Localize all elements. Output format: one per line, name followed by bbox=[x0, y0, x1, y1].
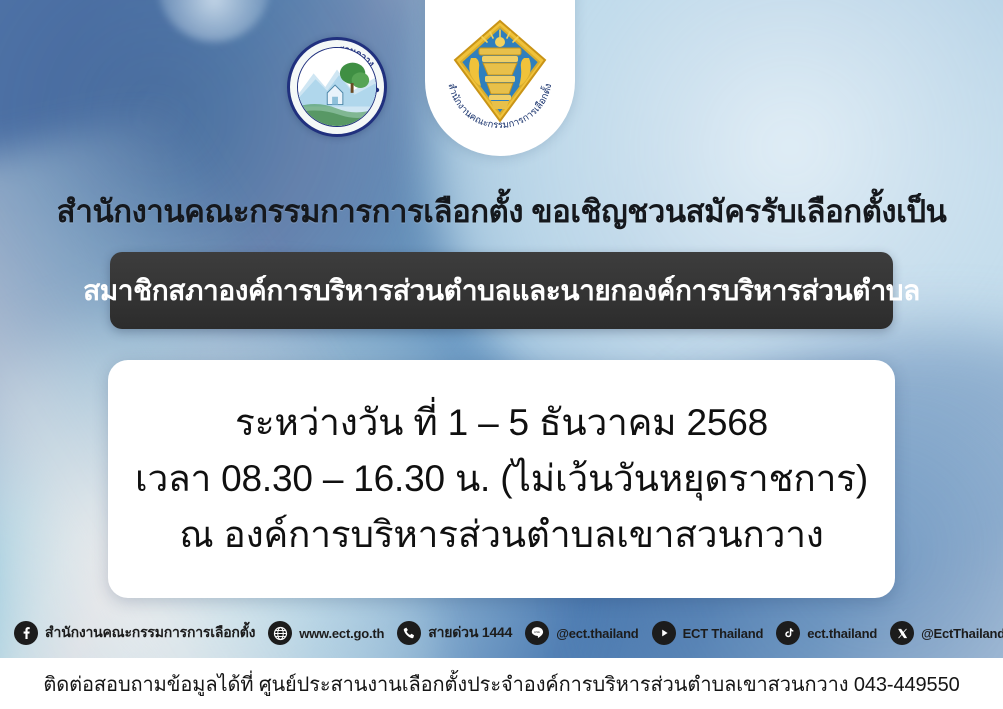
social-links-bar: สำนักงานคณะกรรมการการเลือกตั้ง www.ect.g… bbox=[0, 613, 1003, 653]
detail-line-time: เวลา 08.30 – 16.30 น. (ไม่เว้นวันหยุดราช… bbox=[135, 453, 868, 505]
social-item-line[interactable]: LINE @ect.thailand bbox=[525, 621, 638, 645]
tiktok-icon bbox=[776, 621, 800, 645]
social-item-hotline[interactable]: สายด่วน 1444 bbox=[397, 621, 512, 645]
ect-emblem-icon bbox=[449, 18, 551, 124]
contact-strip: ติดต่อสอบถามข้อมูลได้ที่ ศูนย์ประสานงานเ… bbox=[0, 658, 1003, 709]
social-item-facebook[interactable]: สำนักงานคณะกรรมการการเลือกตั้ง bbox=[14, 621, 255, 645]
youtube-icon bbox=[652, 621, 676, 645]
social-label-facebook: สำนักงานคณะกรรมการการเลือกตั้ง bbox=[45, 622, 255, 644]
contact-text: ติดต่อสอบถามข้อมูลได้ที่ ศูนย์ประสานงานเ… bbox=[43, 668, 959, 700]
globe-icon bbox=[268, 621, 292, 645]
social-label-youtube: ECT Thailand bbox=[683, 626, 764, 641]
svg-text:LINE: LINE bbox=[534, 630, 540, 634]
social-label-line: @ect.thailand bbox=[556, 626, 638, 641]
local-seal-scene bbox=[297, 47, 377, 127]
page-headline: สำนักงานคณะกรรมการการเลือกตั้ง ขอเชิญชวน… bbox=[0, 186, 1003, 236]
social-item-tiktok[interactable]: ect.thailand bbox=[776, 621, 877, 645]
social-item-youtube[interactable]: ECT Thailand bbox=[652, 621, 764, 645]
x-twitter-icon bbox=[890, 621, 914, 645]
social-item-x[interactable]: @EctThailand bbox=[890, 621, 1003, 645]
local-seal-landscape-icon bbox=[298, 48, 376, 126]
social-label-tiktok: ect.thailand bbox=[807, 626, 877, 641]
position-banner: สมาชิกสภาองค์การบริหารส่วนตำบลและนายกองค… bbox=[110, 252, 893, 329]
local-seal: อบต.เขาสวนกวาง อ.เขาสวนกวาง จ.ขอนแก่น bbox=[287, 37, 387, 137]
phone-icon bbox=[397, 621, 421, 645]
social-item-website[interactable]: www.ect.go.th bbox=[268, 621, 384, 645]
detail-line-dates: ระหว่างวัน ที่ 1 – 5 ธันวาคม 2568 bbox=[235, 397, 768, 449]
social-label-website: www.ect.go.th bbox=[299, 626, 384, 641]
poster-canvas: สำนักงานคณะกรรมการการเลือกตั้ง bbox=[0, 0, 1003, 709]
social-label-hotline: สายด่วน 1444 bbox=[428, 622, 512, 644]
details-card: ระหว่างวัน ที่ 1 – 5 ธันวาคม 2568 เวลา 0… bbox=[108, 360, 895, 598]
facebook-icon bbox=[14, 621, 38, 645]
line-icon: LINE bbox=[525, 621, 549, 645]
position-banner-text: สมาชิกสภาองค์การบริหารส่วนตำบลและนายกองค… bbox=[83, 269, 920, 313]
social-label-x: @EctThailand bbox=[921, 626, 1003, 641]
detail-line-venue: ณ องค์การบริหารส่วนตำบลเขาสวนกวาง bbox=[179, 509, 823, 561]
